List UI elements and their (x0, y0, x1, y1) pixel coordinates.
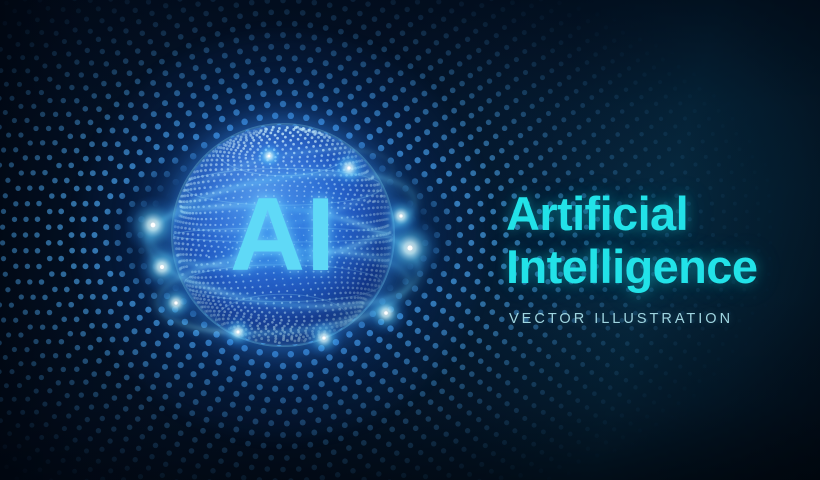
banner-canvas: AI Artificial Intelligence VECTOR ILLUST… (0, 0, 820, 480)
ai-monogram: AI (173, 125, 393, 345)
headline-line-1: Artificial (506, 188, 806, 241)
headline-line-2: Intelligence (506, 241, 806, 294)
page-title: Artificial Intelligence (506, 188, 806, 293)
page-subtitle: VECTOR ILLUSTRATION (509, 311, 806, 327)
text-block: Artificial Intelligence VECTOR ILLUSTRAT… (506, 188, 806, 327)
